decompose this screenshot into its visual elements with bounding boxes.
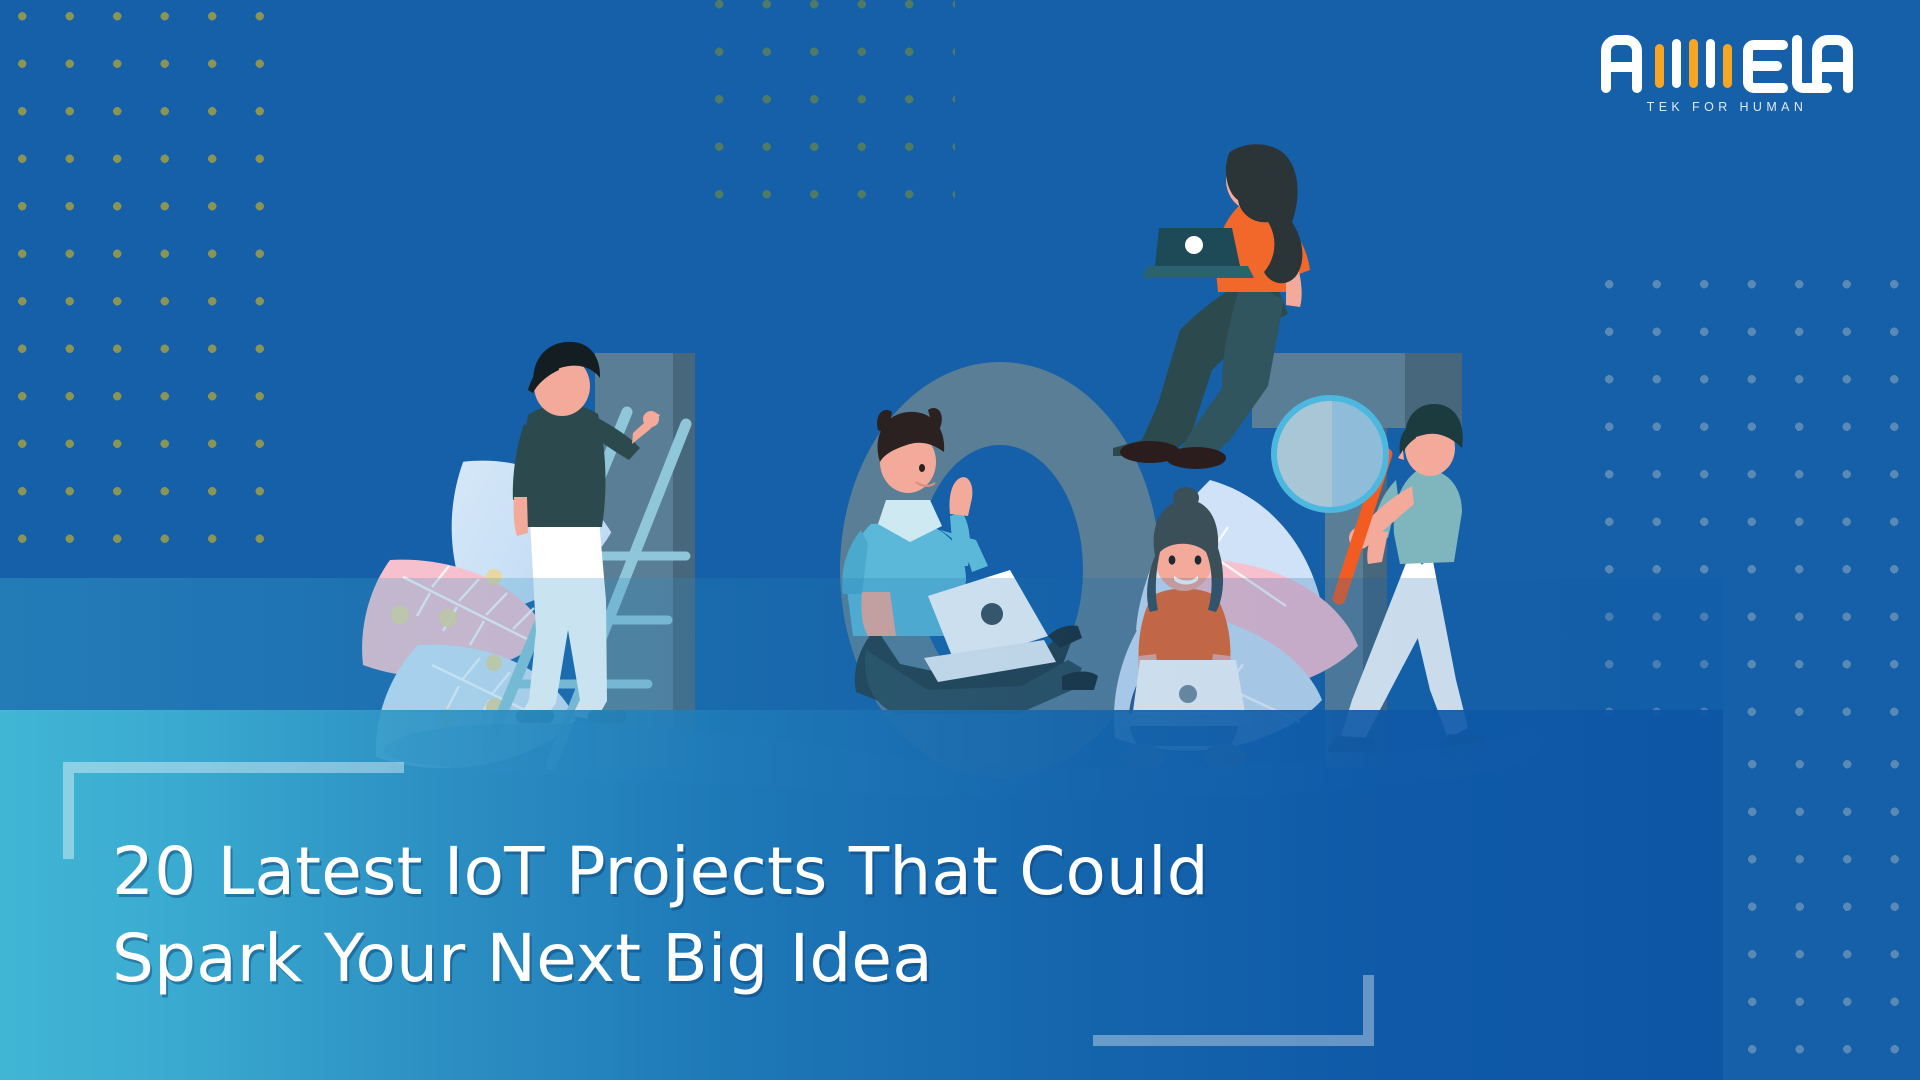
page-title-line-1: 20 Latest IoT Projects That Could <box>112 828 1412 915</box>
logo-wordmark <box>1592 35 1862 93</box>
brand-logo[interactable]: TEK FOR HUMAN <box>1592 35 1862 114</box>
overlay-gradient-fade <box>0 578 1723 712</box>
logo-tagline: TEK FOR HUMAN <box>1592 100 1862 114</box>
page-title-line-2: Spark Your Next Big Idea <box>112 915 1412 1002</box>
logo-amela-icon <box>1599 33 1855 93</box>
page-title: 20 Latest IoT Projects That Could Spark … <box>112 828 1412 1002</box>
hero-banner: 20 Latest IoT Projects That Could Spark … <box>0 0 1920 1080</box>
